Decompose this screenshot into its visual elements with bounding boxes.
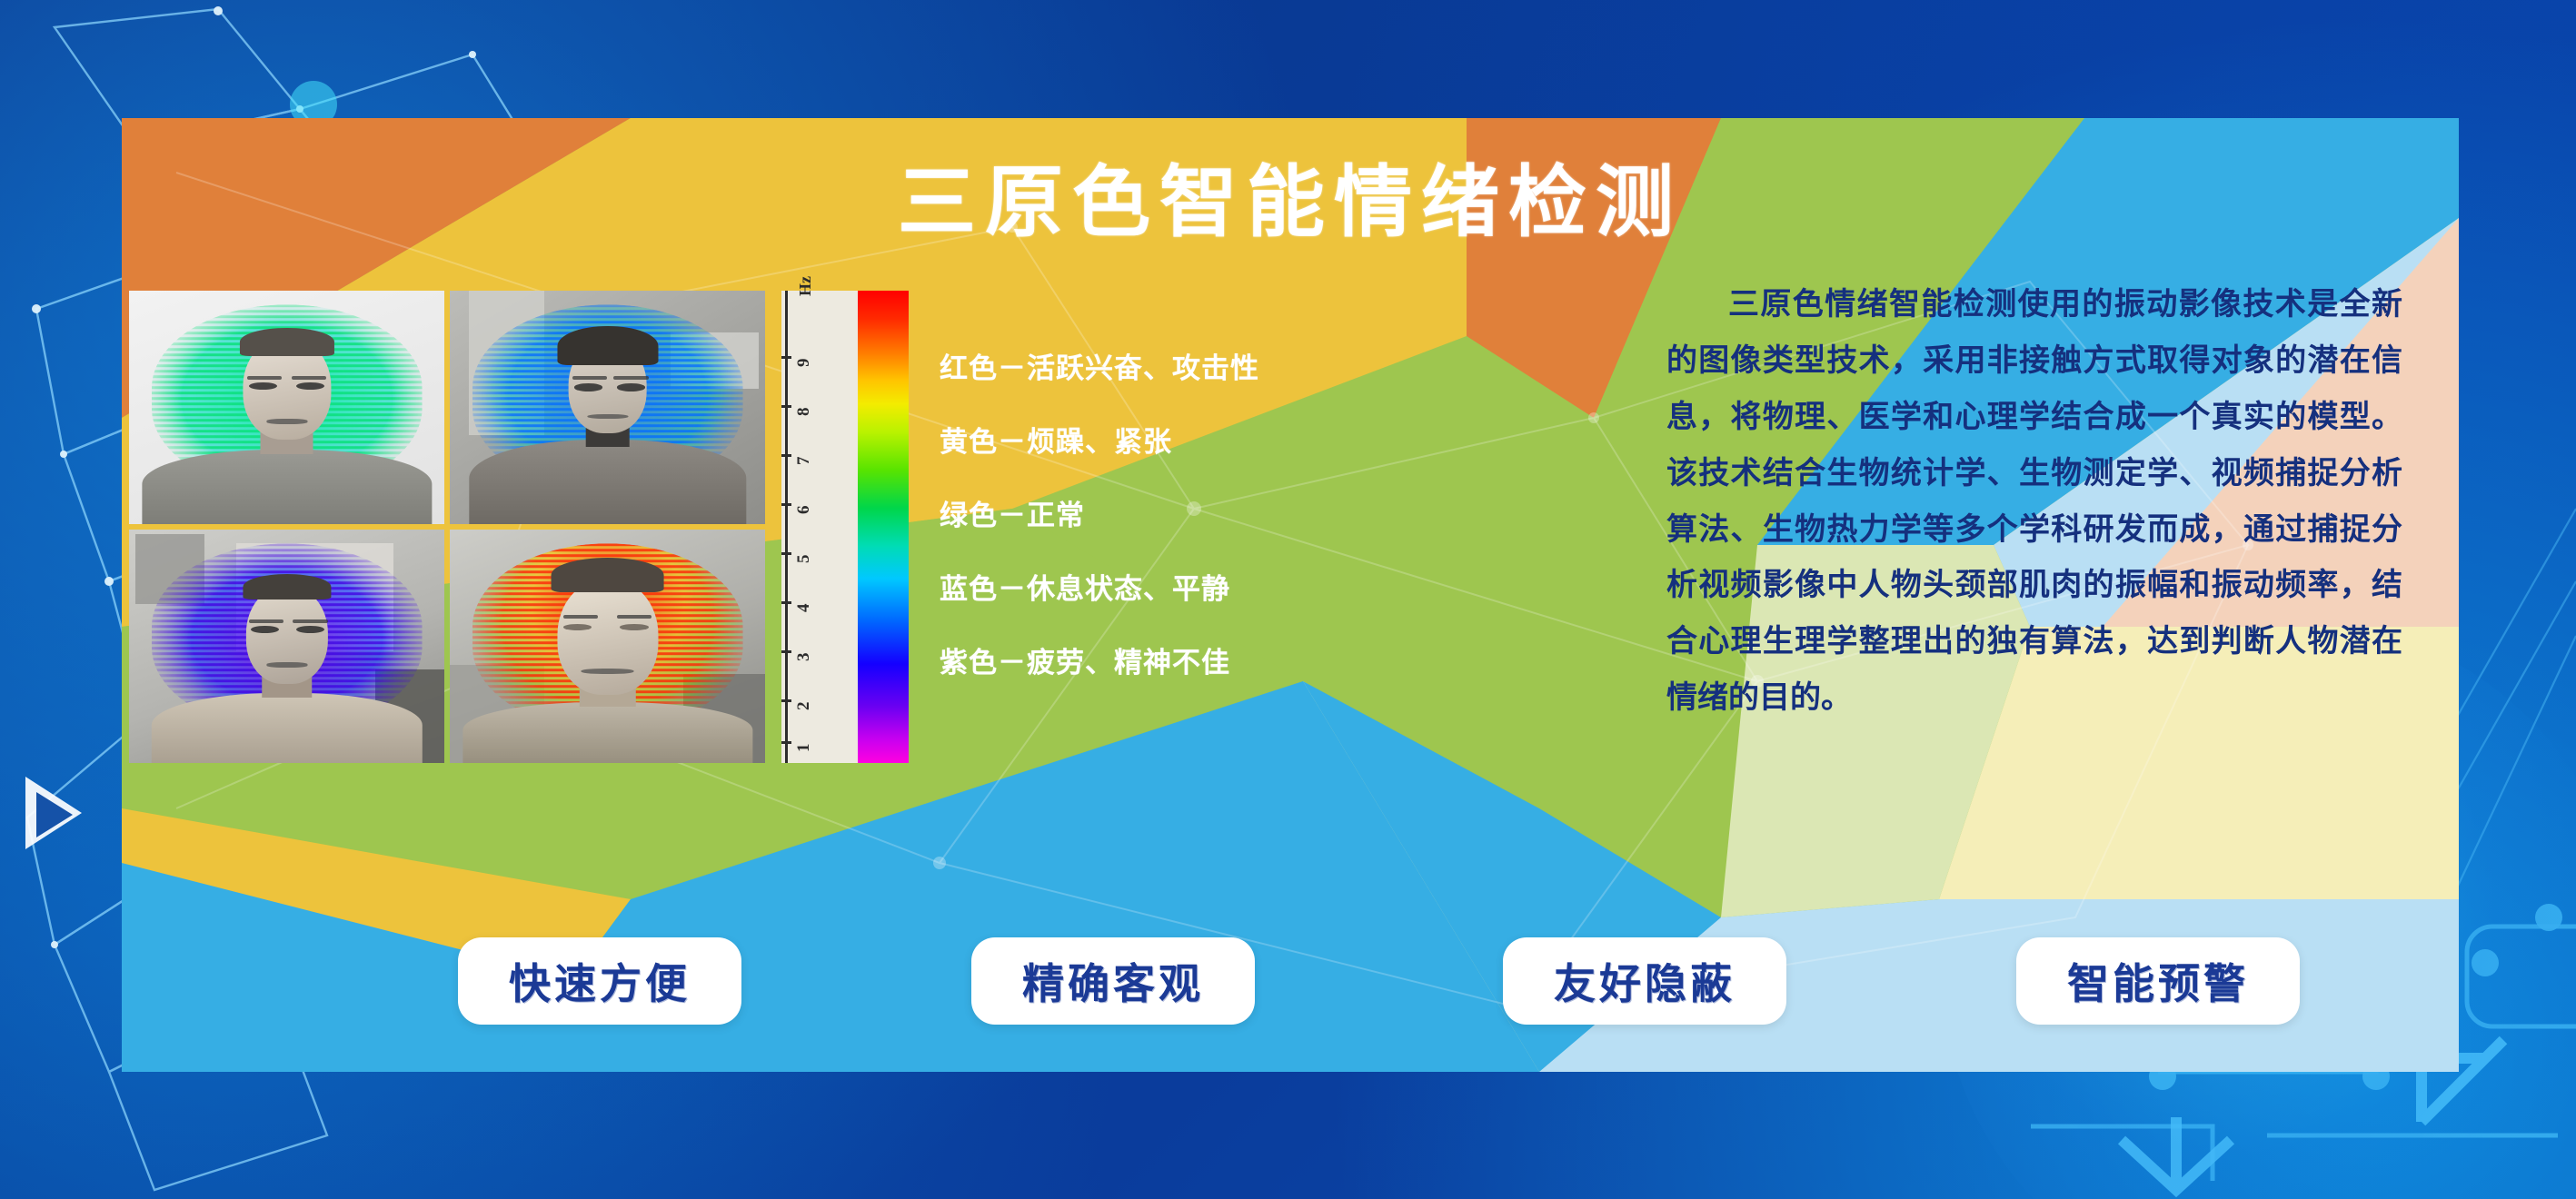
photo-panel-4 [450, 530, 765, 763]
hz-tick-6: 6 [794, 506, 814, 515]
feature-pill-friendly[interactable]: 友好隐蔽 [1503, 937, 1786, 1025]
hz-tick-7: 7 [794, 457, 814, 466]
hz-tick-1: 1 [794, 744, 814, 753]
hz-tick-4: 4 [794, 604, 814, 613]
hz-tick-2: 2 [794, 702, 814, 711]
feature-pill-accurate[interactable]: 精确客观 [971, 937, 1255, 1025]
legend-item-purple: 紫色－疲劳、精神不佳 [940, 639, 1348, 680]
feature-pill-alert-label: 智能预警 [2067, 951, 2249, 1011]
hz-tick-3: 3 [794, 653, 814, 662]
hz-axis-line [785, 291, 788, 763]
vibraimage-photo-grid [129, 291, 765, 763]
hz-tick-5: 5 [794, 555, 814, 564]
hz-unit-label: Hz [796, 276, 815, 296]
hz-tick-8: 8 [794, 408, 814, 417]
legend-item-blue: 蓝色－休息状态、平静 [940, 566, 1348, 607]
frequency-scale-panel: Hz 9 8 7 6 5 4 3 2 1 [781, 291, 909, 763]
play-triangle-inner [36, 792, 73, 837]
content-card: 三原色智能情绪检测 [122, 118, 2459, 1072]
photo-panel-3 [129, 530, 444, 763]
feature-pill-accurate-label: 精确客观 [1022, 951, 1204, 1011]
description-paragraph: 三原色情绪智能检测使用的振动影像技术是全新的图像类型技术，采用非接触方式取得对象… [1666, 277, 2402, 727]
hz-tick-9: 9 [794, 359, 814, 368]
poster-canvas: 三原色智能情绪检测 [0, 0, 2576, 1199]
feature-pill-alert[interactable]: 智能预警 [2016, 937, 2300, 1025]
feature-pill-fast-label: 快速方便 [509, 951, 691, 1011]
legend-item-green: 绿色－正常 [940, 492, 1348, 533]
feature-pill-fast[interactable]: 快速方便 [458, 937, 741, 1025]
feature-pill-friendly-label: 友好隐蔽 [1554, 951, 1736, 1011]
page-title: 三原色智能情绪检测 [122, 138, 2459, 252]
photo-panel-1 [129, 291, 444, 524]
legend-item-red: 红色－活跃兴奋、攻击性 [940, 345, 1348, 386]
hz-axis-area: Hz 9 8 7 6 5 4 3 2 1 [781, 291, 858, 763]
photo-panel-2 [450, 291, 765, 524]
legend-item-yellow: 黄色－烦躁、紧张 [940, 419, 1348, 460]
frequency-colorbar [858, 291, 909, 763]
emotion-color-legend: 红色－活跃兴奋、攻击性 黄色－烦躁、紧张 绿色－正常 蓝色－休息状态、平静 紫色… [940, 345, 1348, 713]
feature-pill-row: 快速方便 精确客观 友好隐蔽 智能预警 [122, 937, 2459, 1046]
